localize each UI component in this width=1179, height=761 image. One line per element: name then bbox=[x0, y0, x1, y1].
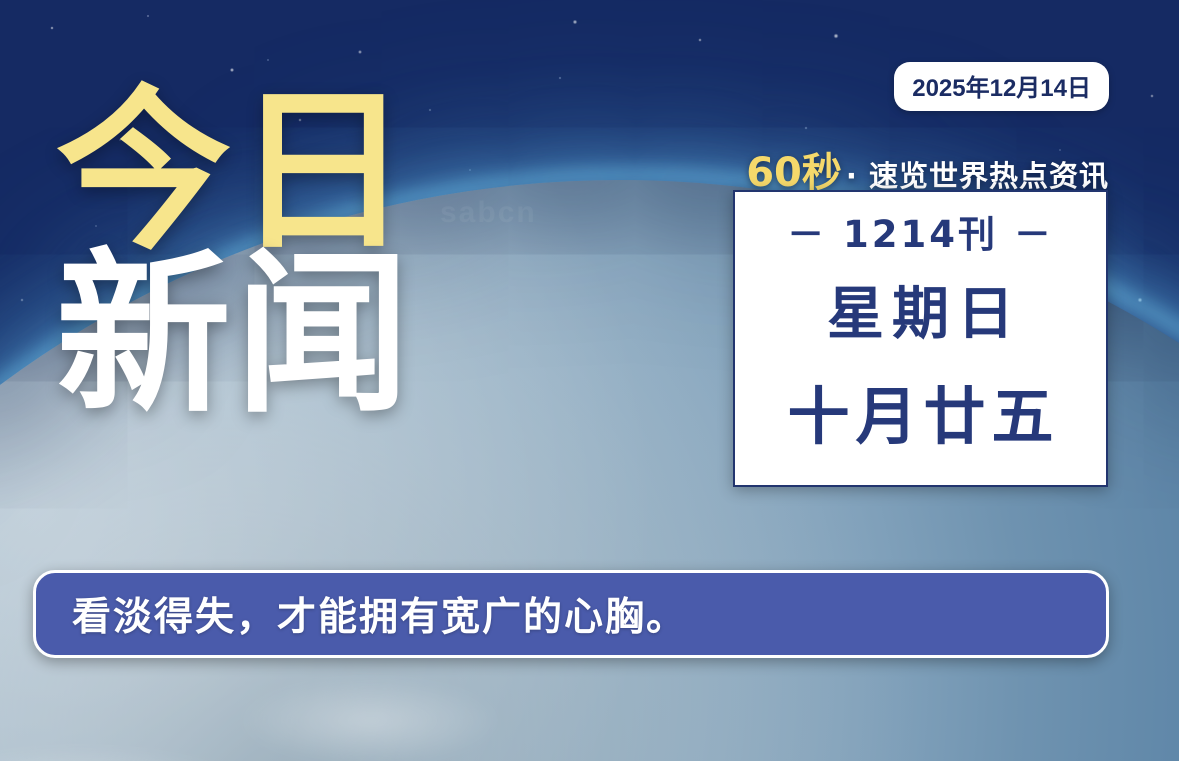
date-badge: 2025年12月14日 bbox=[894, 62, 1109, 111]
lunar-date: 十月廿五 bbox=[781, 366, 1059, 456]
issue-number: － 1214刊 － bbox=[787, 204, 1054, 258]
poster-content: 2025年12月14日 今日 新闻 60秒 · 速览世界热点资讯 － 1214刊… bbox=[0, 0, 1179, 761]
title-line-today: 今日 bbox=[56, 92, 414, 255]
weekday-label: 星期日 bbox=[819, 268, 1022, 350]
daily-quote-bar: 看淡得失，才能拥有宽广的心胸。 bbox=[33, 570, 1109, 658]
tagline-rest: · 速览世界热点资讯 bbox=[846, 153, 1109, 195]
title-line-news: 新闻 bbox=[56, 255, 414, 418]
poster-title: 今日 新闻 bbox=[56, 92, 414, 418]
daily-quote-text: 看淡得失，才能拥有宽广的心胸。 bbox=[36, 586, 687, 642]
issue-info-card: － 1214刊 － 星期日 十月廿五 bbox=[733, 190, 1108, 487]
news-poster: sabcn 2025年12月14日 今日 新闻 60秒 · 速览世界热点资讯 －… bbox=[0, 0, 1179, 761]
